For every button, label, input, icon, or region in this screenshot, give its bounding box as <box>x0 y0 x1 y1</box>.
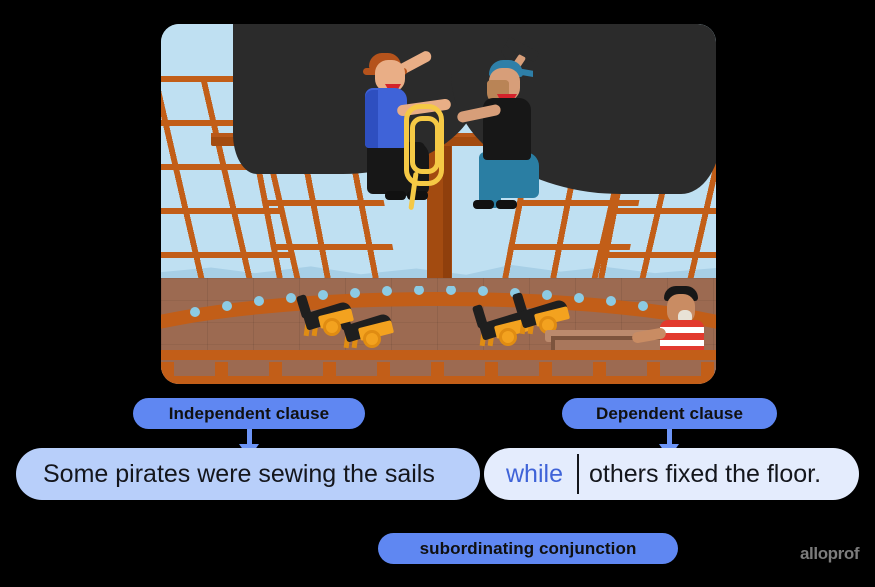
dependent-clause-text: others fixed the floor. <box>579 460 821 489</box>
cannon-2 <box>303 298 369 336</box>
label-dependent-clause: Dependent clause <box>562 398 777 429</box>
independent-clause-text: Some pirates were sewing the sails <box>43 460 435 489</box>
dependent-clause-box: while others fixed the floor. <box>484 448 859 500</box>
deck-bottom-rail <box>161 376 716 384</box>
label-independent-clause: Independent clause <box>133 398 365 429</box>
conjunction-word-text: while <box>484 454 579 494</box>
curved-back-railing <box>161 286 716 334</box>
label-subordinating-conjunction: subordinating conjunction <box>378 533 678 564</box>
rope-coil-inner <box>410 116 440 174</box>
cannon-4 <box>519 296 585 334</box>
pirate-ship-illustration <box>161 24 716 384</box>
alloprof-logo: alloprof <box>800 544 859 564</box>
independent-clause-box: Some pirates were sewing the sails <box>16 448 480 500</box>
pirate-hammering <box>461 46 571 206</box>
example-sentence: Some pirates were sewing the sails while… <box>0 448 875 500</box>
